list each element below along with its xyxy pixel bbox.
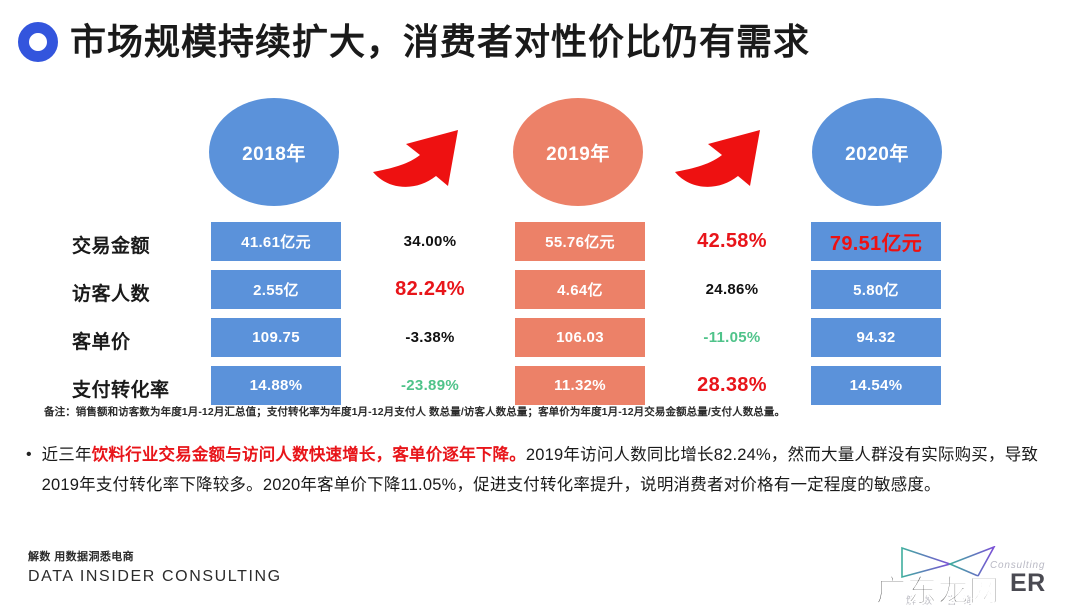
row-label: 客单价: [72, 318, 204, 363]
cell-2019: 55.76亿元: [515, 222, 645, 261]
metrics-grid: 交易金额 41.61亿元 34.00% 55.76亿元 42.58% 79.51…: [0, 222, 1080, 414]
delta-2019-2020: 28.38%: [658, 366, 806, 405]
delta-2018-2019: 82.24%: [356, 270, 504, 309]
year-bubble-label: 2019年: [546, 139, 610, 166]
watermark-text: 广东龙网: [876, 566, 1000, 608]
year-bubble-2018: 2018年: [209, 98, 339, 206]
insight-text: 近三年饮料行业交易金额与访问人数快速增长，客单价逐年下降。2019年访问人数同比…: [42, 440, 1056, 500]
cell-2019: 4.64亿: [515, 270, 645, 309]
delta-2019-2020: 24.86%: [658, 270, 806, 309]
delta-2019-2020: 42.58%: [658, 222, 806, 261]
cell-2020: 79.51亿元: [811, 222, 941, 261]
logo-er-text: ER: [1010, 569, 1046, 598]
row-label: 访客人数: [72, 270, 204, 315]
brand-footer: 解数 用数据洞悉电商 DATA INSIDER CONSULTING: [28, 548, 282, 586]
delta-2019-2020: -11.05%: [658, 318, 806, 357]
cell-2020: 14.54%: [811, 366, 941, 405]
ring-icon: [18, 22, 58, 62]
logo-block: Consulting ER 解数 咨询 广东龙网: [862, 546, 1072, 608]
insight-part1: 近三年: [42, 446, 92, 464]
delta-2018-2019: -3.38%: [356, 318, 504, 357]
insight-bullet: • 近三年饮料行业交易金额与访问人数快速增长，客单价逐年下降。2019年访问人数…: [26, 440, 1056, 500]
slide-canvas: 市场规模持续扩大，消费者对性价比仍有需求 2018年 2019年 2020年 交…: [0, 0, 1080, 608]
growth-arrow-icon: [370, 112, 480, 198]
row-label: 交易金额: [72, 222, 204, 267]
cell-2018: 109.75: [211, 318, 341, 357]
table-row: 交易金额 41.61亿元 34.00% 55.76亿元 42.58% 79.51…: [0, 222, 1080, 267]
year-bubble-label: 2020年: [845, 139, 909, 166]
table-row: 访客人数 2.55亿 82.24% 4.64亿 24.86% 5.80亿: [0, 270, 1080, 315]
delta-2018-2019: -23.89%: [356, 366, 504, 405]
cell-2019: 11.32%: [515, 366, 645, 405]
bullet-marker: •: [26, 440, 32, 500]
growth-arrow-icon: [672, 112, 782, 198]
page-title-row: 市场规模持续扩大，消费者对性价比仍有需求: [18, 22, 810, 62]
delta-2018-2019: 34.00%: [356, 222, 504, 261]
year-bubble-2020: 2020年: [812, 98, 942, 206]
footnote: 备注：销售额和访客数为年度1月-12月汇总值；支付转化率为年度1月-12月支付人…: [44, 405, 1044, 420]
cell-2018: 2.55亿: [211, 270, 341, 309]
cell-2020: 5.80亿: [811, 270, 941, 309]
table-row: 客单价 109.75 -3.38% 106.03 -11.05% 94.32: [0, 318, 1080, 363]
year-bubble-label: 2018年: [242, 139, 306, 166]
page-title: 市场规模持续扩大，消费者对性价比仍有需求: [70, 24, 810, 60]
cell-2018: 14.88%: [211, 366, 341, 405]
brand-tagline-cn: 解数 用数据洞悉电商: [28, 548, 282, 564]
cell-2018: 41.61亿元: [211, 222, 341, 261]
cell-2020: 94.32: [811, 318, 941, 357]
year-bubble-2019: 2019年: [513, 98, 643, 206]
insight-highlight: 饮料行业交易金额与访问人数快速增长，客单价逐年下降。: [92, 446, 526, 464]
year-bubbles-band: 2018年 2019年 2020年: [0, 98, 1080, 208]
cell-2019: 106.03: [515, 318, 645, 357]
brand-name-en: DATA INSIDER CONSULTING: [28, 568, 282, 586]
